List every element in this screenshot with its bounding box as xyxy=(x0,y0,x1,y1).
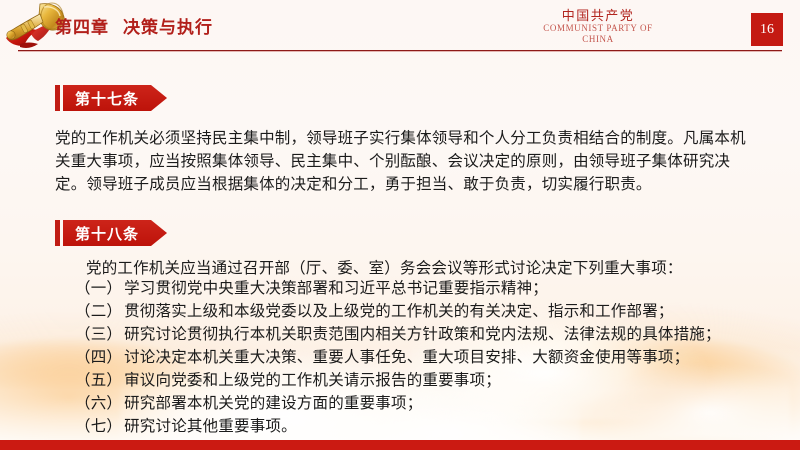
list-item-number: （五） xyxy=(75,372,122,389)
footer-bar xyxy=(0,440,800,450)
party-brand: 中国共产党 COMMUNIST PARTY OF CHINA xyxy=(508,8,688,45)
list-item: （四）讨论决定本机关重大决策、重要人事任免、重大项目安排、大额资金使用等事项； xyxy=(75,346,795,369)
chapter-title-text: 决策与执行 xyxy=(123,18,213,38)
list-item-text: 研究讨论贯彻执行本机关职责范围内相关方针政策和党内法规、法律法规的具体措施； xyxy=(124,326,721,343)
banner-accent-bar xyxy=(55,220,60,246)
list-item-text: 研究讨论其他重要事项。 xyxy=(124,418,297,435)
section-banner-article-17: 第十七条 xyxy=(55,85,167,111)
list-item: （三）研究讨论贯彻执行本机关职责范围内相关方针政策和党内法规、法律法规的具体措施… xyxy=(75,323,795,346)
list-item-number: （二） xyxy=(75,303,122,320)
list-item-text: 学习贯彻党中央重大决策部署和习近平总书记重要指示精神； xyxy=(124,280,548,297)
page-number-badge: 16 xyxy=(751,13,783,46)
list-item-number: （六） xyxy=(75,395,122,412)
slide-canvas: 第四章决策与执行 中国共产党 COMMUNIST PARTY OF CHINA … xyxy=(0,0,800,450)
list-item: （五）审议向党委和上级党的工作机关请示报告的重要事项； xyxy=(75,369,795,392)
list-item: （一）学习贯彻党中央重大决策部署和习近平总书记重要指示精神； xyxy=(75,277,795,300)
list-item-number: （七） xyxy=(75,418,122,435)
banner-body: 第十七条 xyxy=(63,85,167,111)
brand-chinese: 中国共产党 xyxy=(508,8,688,23)
list-item-number: （一） xyxy=(75,280,122,297)
banner-label: 第十八条 xyxy=(75,223,139,244)
list-item: （六）研究部署本机关党的建设方面的重要事项； xyxy=(75,392,795,415)
article-18-list: （一）学习贯彻党中央重大决策部署和习近平总书记重要指示精神； （二）贯彻落实上级… xyxy=(75,277,795,438)
banner-accent-bar xyxy=(55,85,60,111)
list-item-text: 贯彻落实上级和本级党委以及上级党的工作机关的有关决定、指示和工作部署； xyxy=(124,303,674,320)
article-17-paragraph: 党的工作机关必须坚持民主集中制，领导班子实行集体领导和个人分工负责相结合的制度。… xyxy=(55,127,755,196)
list-item-number: （四） xyxy=(75,349,122,366)
list-item-text: 审议向党委和上级党的工作机关请示报告的重要事项； xyxy=(124,372,501,389)
brand-english-line2: CHINA xyxy=(508,34,688,45)
slide-header: 第四章决策与执行 中国共产党 COMMUNIST PARTY OF CHINA … xyxy=(0,0,800,52)
chapter-label: 第四章 xyxy=(55,18,109,38)
list-item-text: 讨论决定本机关重大决策、重要人事任免、重大项目安排、大额资金使用等事项； xyxy=(124,349,689,366)
list-item-text: 研究部署本机关党的建设方面的重要事项； xyxy=(124,395,422,412)
banner-body: 第十八条 xyxy=(63,220,167,246)
list-item-number: （三） xyxy=(75,326,122,343)
section-banner-article-18: 第十八条 xyxy=(55,220,167,246)
brand-english-line1: COMMUNIST PARTY OF xyxy=(508,23,688,34)
list-item: （七）研究讨论其他重要事项。 xyxy=(75,415,795,438)
banner-label: 第十七条 xyxy=(75,88,139,109)
list-item: （二）贯彻落实上级和本级党委以及上级党的工作机关的有关决定、指示和工作部署； xyxy=(75,300,795,323)
page-title: 第四章决策与执行 xyxy=(55,13,213,38)
header-divider-shadow xyxy=(18,51,782,52)
